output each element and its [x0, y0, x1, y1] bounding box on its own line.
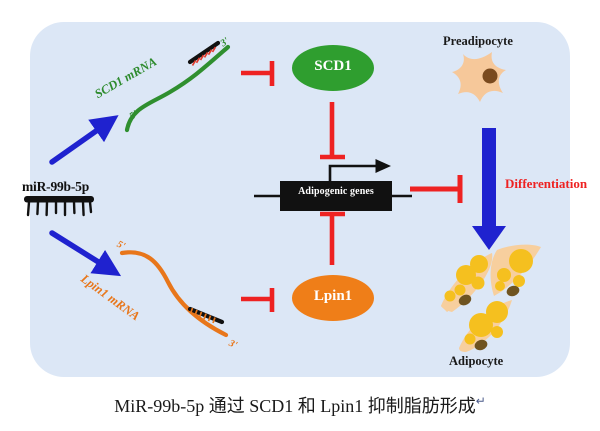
caption-text: MiR-99b-5p 通过 SCD1 和 Lpin1 抑制脂肪形成 — [114, 396, 476, 416]
scd1-protein-label: SCD1 — [296, 58, 370, 75]
figure-container: miR-99b-5p SCD1 mRNA 5' 3' Lpin1 mRNA 5'… — [0, 0, 600, 431]
adipogenic-genes-label: Adipogenic genes — [284, 186, 388, 197]
adipocyte-cells — [441, 245, 541, 352]
adipocyte-label: Adipocyte — [449, 354, 503, 369]
differentiation-arrow — [472, 128, 506, 250]
inhibition-scd1-mrna — [241, 61, 273, 86]
scd1-mrna-strand — [127, 43, 228, 130]
mirna-label: miR-99b-5p — [22, 179, 89, 195]
lpin1-protein-label: Lpin1 — [296, 288, 370, 305]
preadipocyte-label: Preadipocyte — [443, 34, 513, 49]
blue-arrow-up-right — [52, 124, 106, 162]
adipocyte-cell — [491, 245, 541, 298]
adipocyte-cell — [441, 253, 492, 312]
caption-return-mark: ↵ — [476, 394, 486, 408]
differentiation-label: Differentiation — [505, 176, 587, 192]
blue-arrow-down-right — [52, 233, 108, 268]
inhibition-lpin1-genes — [320, 213, 345, 265]
adipocyte-cell — [459, 300, 512, 352]
figure-caption: MiR-99b-5p 通过 SCD1 和 Lpin1 抑制脂肪形成↵ — [0, 392, 600, 418]
inhibition-lpin1-mrna — [241, 288, 273, 312]
inhibition-scd1-genes — [320, 102, 345, 158]
inhibition-genes-differentiation — [410, 175, 462, 203]
mirna-comb-icon — [24, 196, 94, 215]
lpin1-mrna-strand — [122, 252, 226, 335]
preadipocyte-cell — [452, 52, 506, 102]
